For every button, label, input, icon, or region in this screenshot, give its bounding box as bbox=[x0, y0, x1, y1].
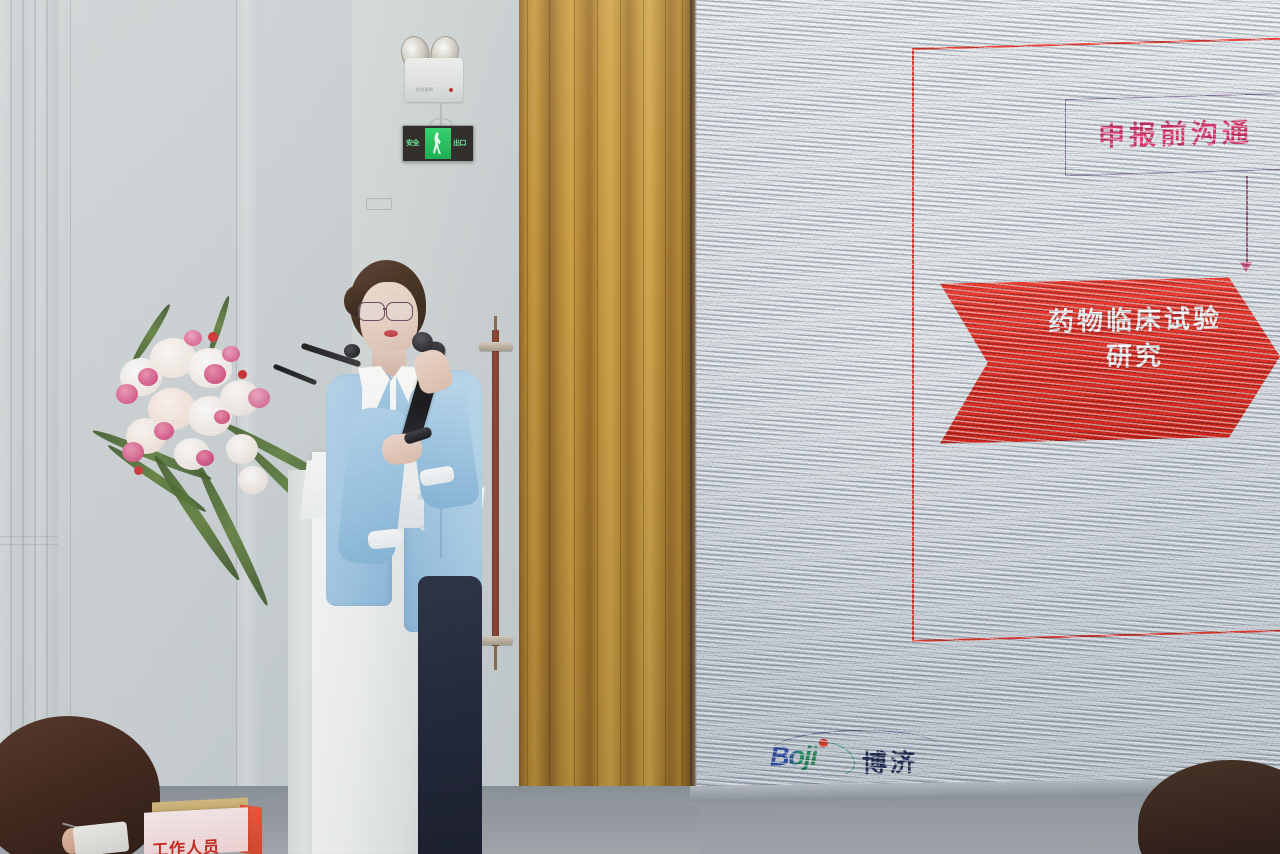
led-display-wall: 申报前沟通 药物临床试验 研究 Boji 博济 bbox=[690, 0, 1280, 790]
face-mask-icon bbox=[73, 821, 130, 854]
placard-text: 工作人员 bbox=[152, 831, 248, 854]
eyeglasses-icon bbox=[358, 302, 420, 320]
stage-curtain bbox=[519, 0, 691, 812]
presenter-trousers bbox=[418, 576, 482, 854]
fluted-pilaster bbox=[0, 0, 58, 810]
presenter bbox=[322, 258, 502, 854]
indicator-dot bbox=[449, 88, 453, 92]
wall-marking bbox=[366, 198, 392, 210]
exit-sign-text-left: 安全 bbox=[406, 138, 419, 148]
exit-sign: 安全 出口 bbox=[402, 125, 474, 162]
wall-seam bbox=[70, 0, 71, 810]
exit-sign-text-right: 出口 bbox=[453, 138, 466, 148]
photo-scene: 应急照明 安全 出口 申报前沟通 药物临床试验 bbox=[0, 0, 1280, 854]
emergency-light-label: 应急照明 bbox=[416, 88, 433, 93]
lectern-side bbox=[288, 470, 314, 854]
emergency-light-icon: 应急照明 bbox=[399, 36, 469, 104]
